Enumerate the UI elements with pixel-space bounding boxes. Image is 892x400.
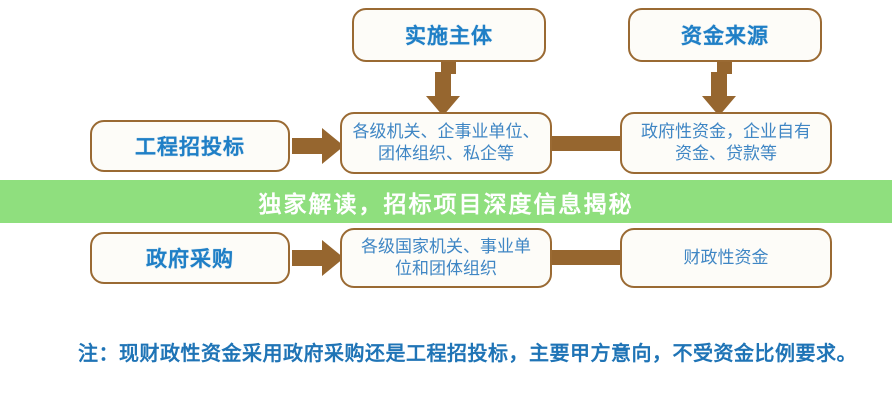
node-line-1: 财政性资金: [684, 248, 769, 267]
node-procurement-entities-text: 各级国家机关、事业单 位和团体组织: [353, 236, 539, 280]
arrow-shaft: [292, 138, 324, 154]
connector-entities-to-fiscal: [548, 250, 624, 265]
node-line-2: 资金、贷款等: [675, 144, 777, 163]
arrow-right-procurement-to-entities: [292, 240, 346, 276]
node-line-1: 各级国家机关、事业单: [361, 237, 531, 256]
node-engineering-bidding-label: 工程招投标: [135, 131, 245, 161]
node-fiscal-funds: 财政性资金: [620, 228, 832, 288]
node-line-1: 各级机关、企事业单位、: [353, 122, 540, 141]
node-implementation-entities-text: 各级机关、企事业单位、 团体组织、私企等: [345, 121, 548, 165]
node-funding-source-label: 资金来源: [681, 20, 769, 50]
node-government-procurement-label: 政府采购: [146, 243, 234, 273]
node-procurement-entities: 各级国家机关、事业单 位和团体组织: [340, 228, 552, 288]
connector-entities-to-funding: [548, 136, 624, 151]
arrow-right-engineering-to-entities: [292, 128, 346, 164]
diagram-canvas: 实施主体 资金来源 工程招投标 政府采购 各级机关、企事业单位、 团体组织、私企…: [0, 0, 892, 400]
node-funding-detail-text: 政府性资金，企业自有 资金、贷款等: [633, 121, 819, 165]
node-line-1: 政府性资金，企业自有: [641, 122, 811, 141]
node-funding-detail: 政府性资金，企业自有 资金、贷款等: [620, 112, 832, 174]
node-implementation-subject-label: 实施主体: [405, 20, 493, 50]
node-fiscal-funds-text: 财政性资金: [676, 247, 777, 269]
diagram-note: 注：现财政性资金采用政府采购还是工程招投标，主要甲方意向，不受资金比例要求。: [78, 340, 868, 368]
node-engineering-bidding: 工程招投标: [90, 120, 290, 172]
node-line-2: 团体组织、私企等: [378, 144, 514, 163]
node-implementation-entities: 各级机关、企事业单位、 团体组织、私企等: [340, 112, 552, 174]
arrow-shaft: [435, 72, 451, 98]
node-government-procurement: 政府采购: [90, 232, 290, 284]
arrow-shaft: [292, 250, 324, 266]
watermark-banner-text: 独家解读，招标项目深度信息揭秘: [259, 185, 634, 219]
node-funding-source: 资金来源: [628, 8, 822, 62]
arrow-shaft: [711, 72, 727, 98]
node-implementation-subject: 实施主体: [352, 8, 546, 62]
node-line-2: 位和团体组织: [395, 259, 497, 278]
watermark-banner: 独家解读，招标项目深度信息揭秘: [0, 180, 892, 223]
